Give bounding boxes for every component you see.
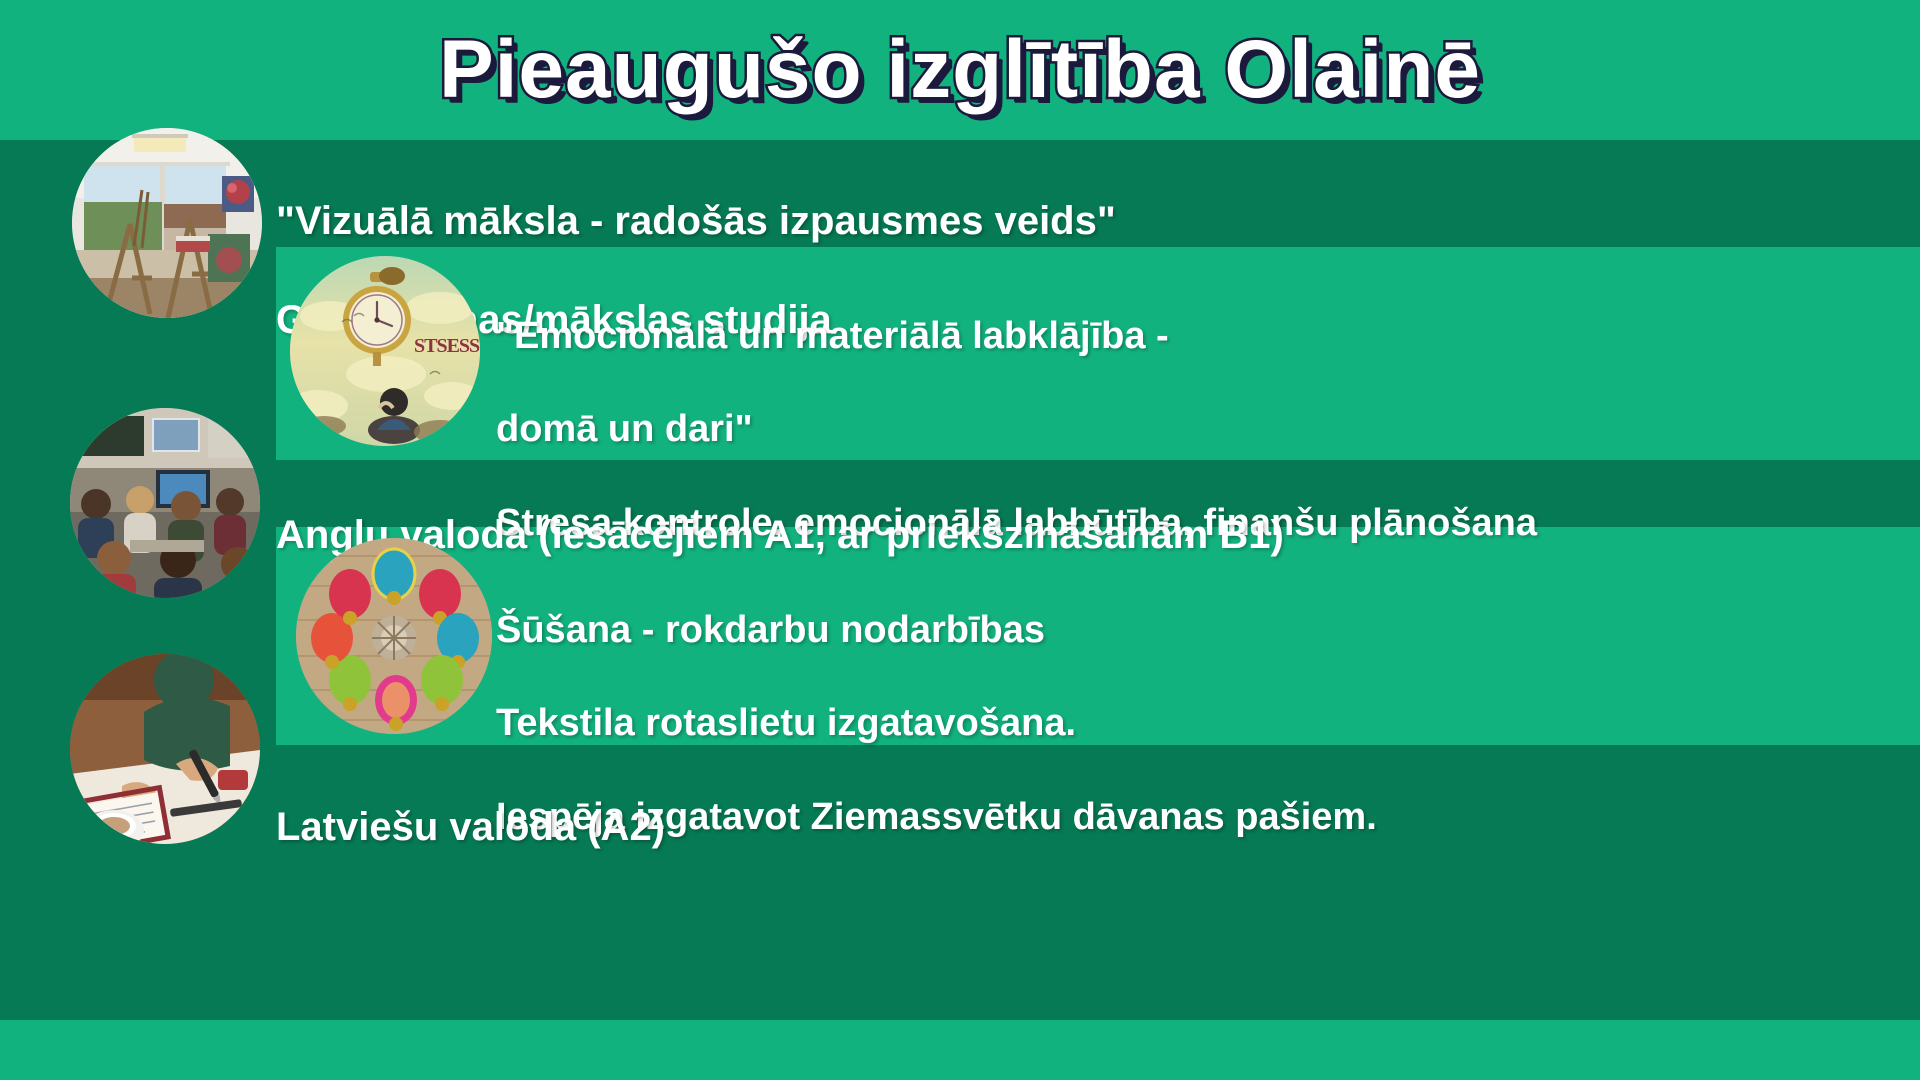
svg-text:STSESS: STSESS [414, 335, 480, 357]
person-writing-notes-photo [70, 654, 260, 844]
art-studio-easels-photo [72, 128, 262, 318]
classroom-lecture-photo [70, 408, 260, 598]
writing-notes-image [70, 654, 260, 844]
classroom-image [70, 408, 260, 598]
stress-clock-surreal-photo: STSESS [290, 256, 480, 446]
row-wellbeing-line1: "Emocionālā un materiālā labklājība - [496, 313, 1906, 360]
art-studio-image [72, 128, 262, 318]
poster-canvas: Pieaugušo izglītība Olainē [0, 0, 1920, 1080]
row-latvian-line1: Latviešu valoda (A2) [276, 803, 1676, 852]
footer-strip [0, 1020, 1920, 1080]
textile-jewellery-beads-photo [296, 538, 492, 734]
row-visual-art-line1: "Vizuālā māksla - radošās izpausmes veid… [276, 197, 1596, 246]
row-latvian-text: Latviešu valoda (A2) [276, 754, 1676, 902]
row-wellbeing-line2: domā un dari" [496, 406, 1906, 453]
textile-beads-image [296, 538, 492, 734]
page-title: Pieaugušo izglītība Olainē [439, 23, 1481, 117]
stress-clock-image: STSESS [290, 256, 480, 446]
row-sewing-line1: Šūšana - rokdarbu nodarbības [496, 607, 1856, 654]
row-sewing-line2: Tekstila rotaslietu izgatavošana. [496, 700, 1856, 747]
row-english-line1: Angļu valoda (iesācējiem A1, ar priekšzi… [276, 511, 1776, 560]
poster-header: Pieaugušo izglītība Olainē [0, 0, 1920, 140]
